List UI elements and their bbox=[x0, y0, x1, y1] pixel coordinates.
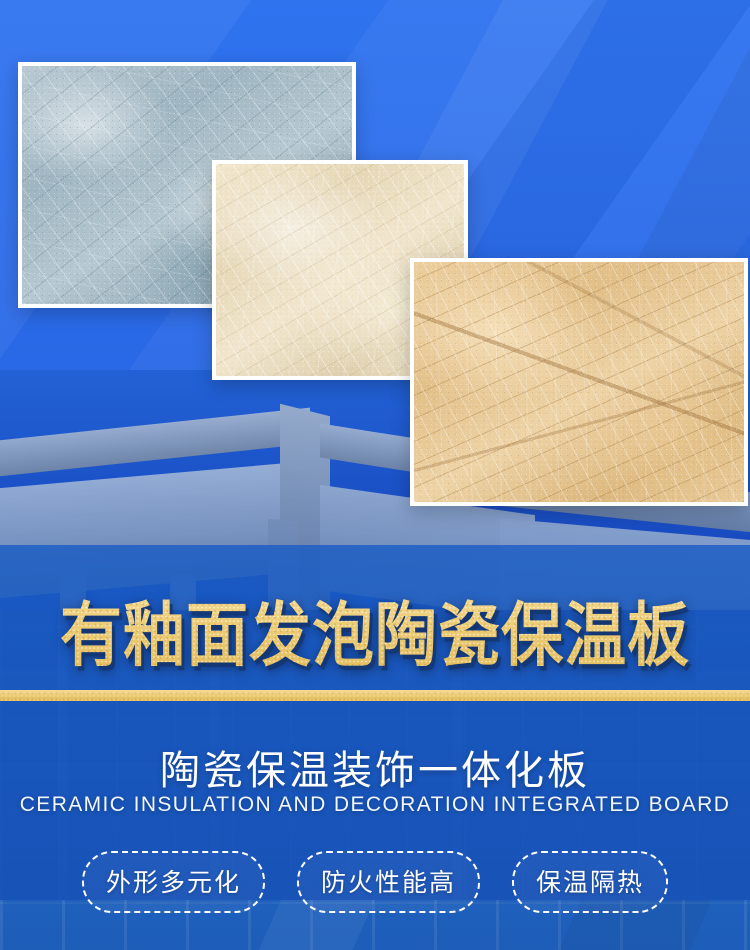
feature-pill-3[interactable]: 保温隔热 bbox=[512, 851, 668, 913]
subtitle-chinese: 陶瓷保温装饰一体化板 bbox=[0, 738, 750, 796]
tile-sample-3[interactable] bbox=[410, 258, 748, 506]
feature-pill-group: 外形多元化 防火性能高 保温隔热 bbox=[0, 851, 750, 913]
feature-pill-1[interactable]: 外形多元化 bbox=[82, 851, 265, 913]
title-band: 有釉面发泡陶瓷保温板 bbox=[0, 583, 750, 675]
subtitle-english: CERAMIC INSULATION AND DECORATION INTEGR… bbox=[0, 793, 750, 817]
tile-texture-grain bbox=[414, 262, 744, 502]
page-title: 有釉面发泡陶瓷保温板 bbox=[60, 579, 690, 680]
gold-divider bbox=[0, 690, 750, 701]
feature-pill-2[interactable]: 防火性能高 bbox=[297, 851, 480, 913]
product-banner: 有釉面发泡陶瓷保温板 陶瓷保温装饰一体化板 CERAMIC INSULATION… bbox=[0, 0, 750, 950]
